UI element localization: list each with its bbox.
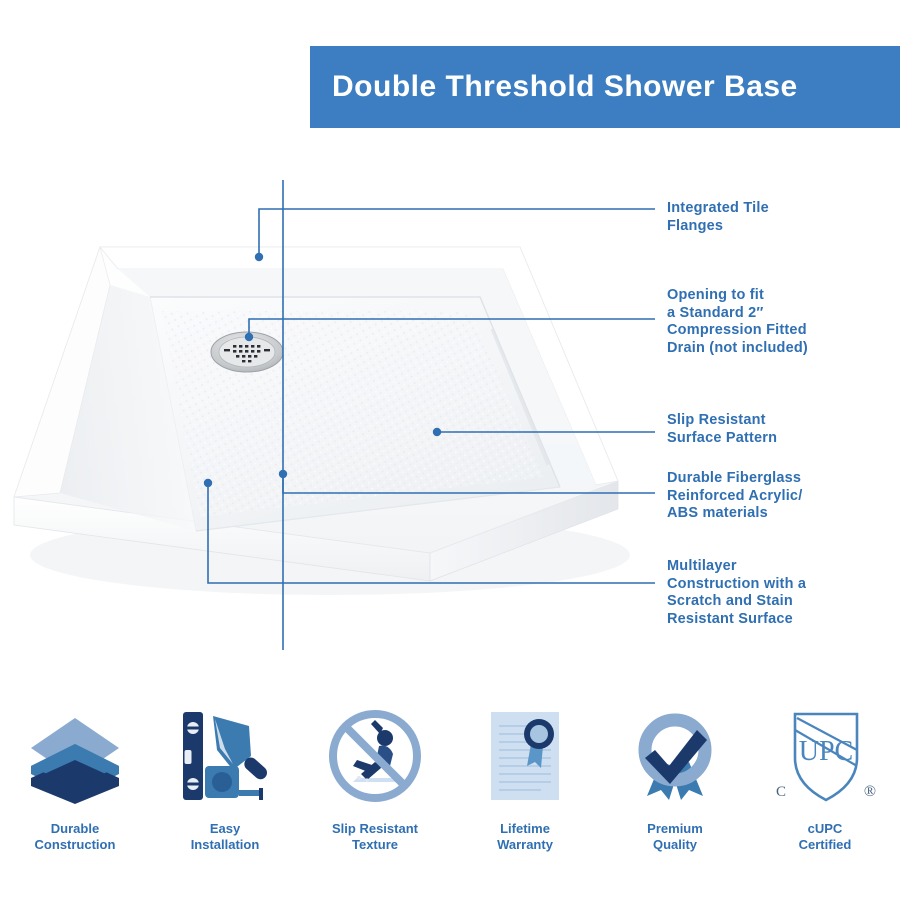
feature-durable-construction: Durable Construction [0, 700, 150, 875]
callout-slip-resistant-surface: Slip Resistant Surface Pattern [667, 412, 777, 447]
upc-shield-icon: UPC C ® [771, 700, 879, 812]
infographic-canvas: Double Threshold Shower Base [0, 0, 900, 900]
feature-slip-resistant: Slip Resistant Texture [300, 700, 450, 875]
feature-lifetime-warranty: Lifetime Warranty [450, 700, 600, 875]
leader-dot-multilayer [204, 479, 212, 487]
upc-shield-text: UPC [799, 736, 853, 767]
level-trowel-icon [173, 700, 277, 812]
leader-dot-flanges [255, 253, 263, 261]
leader-dot-surface [433, 428, 441, 436]
upc-right-mark: ® [864, 783, 876, 800]
title-banner: Double Threshold Shower Base [310, 46, 900, 128]
feature-label: Durable Construction [35, 821, 116, 853]
callout-drain-opening: Opening to fit a Standard 2″ Compression… [667, 287, 808, 357]
layers-icon [23, 700, 127, 812]
callout-integrated-tile-flanges: Integrated Tile Flanges [667, 200, 769, 235]
no-slip-icon [323, 700, 427, 812]
leader-dot-materials [279, 470, 287, 478]
feature-label: Easy Installation [191, 821, 260, 853]
upc-left-mark: C [776, 784, 786, 800]
callout-multilayer-construction: Multilayer Construction with a Scratch a… [667, 558, 806, 628]
feature-easy-installation: Easy Installation [150, 700, 300, 875]
callout-durable-materials: Durable Fiberglass Reinforced Acrylic/ A… [667, 470, 802, 523]
leader-dot-drain [245, 333, 253, 341]
feature-label: Premium Quality [647, 821, 703, 853]
page-title: Double Threshold Shower Base [310, 70, 798, 104]
feature-cupc-certified: UPC C ® cUPC Certified [750, 700, 900, 875]
feature-label: Slip Resistant Texture [332, 821, 418, 853]
feature-label: Lifetime Warranty [497, 821, 553, 853]
rosette-check-icon [623, 700, 727, 812]
feature-label: cUPC Certified [799, 821, 852, 853]
certificate-icon [473, 700, 577, 812]
feature-badge-row: Durable Construction [0, 700, 900, 875]
feature-premium-quality: Premium Quality [600, 700, 750, 875]
